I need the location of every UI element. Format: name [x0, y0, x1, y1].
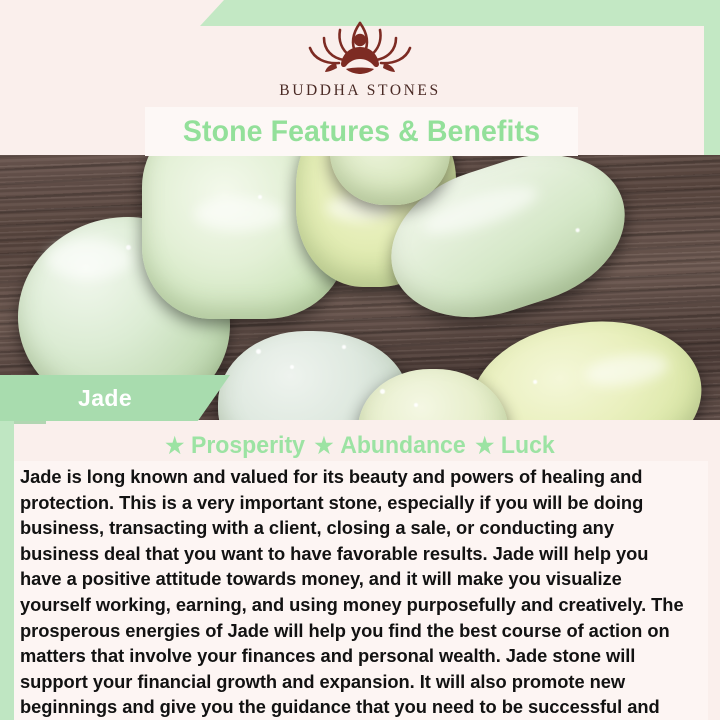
brand-logo: BUDDHA STONES	[0, 14, 720, 106]
benefit-item-abundance: ★ Abundance	[315, 432, 466, 460]
benefit-item-prosperity: ★ Prosperity	[165, 432, 305, 460]
green-left-strip-lower	[0, 400, 14, 720]
page-title: Stone Features & Benefits	[156, 107, 567, 156]
benefit-label: Luck	[501, 432, 555, 460]
benefits-row: ★ Prosperity ★ Abundance ★ Luck	[14, 430, 705, 462]
benefit-label: Abundance	[340, 432, 465, 460]
stone-name-label: Jade	[0, 375, 230, 421]
description-block: Jade is long known and valued for its be…	[14, 461, 708, 720]
lotus-meditation-icon	[294, 14, 426, 80]
benefit-item-luck: ★ Luck	[475, 432, 554, 460]
description-text: Jade is long known and valued for its be…	[20, 464, 692, 720]
brand-name: BUDDHA STONES	[279, 82, 440, 100]
benefit-label: Prosperity	[191, 432, 305, 460]
star-icon: ★	[315, 435, 334, 457]
stone-bottom-center-small	[358, 369, 508, 420]
star-icon: ★	[165, 435, 184, 457]
infographic-page: BUDDHA STONES Stone Features & Benefits	[0, 0, 720, 720]
star-icon: ★	[475, 435, 494, 457]
stone-left-bottom-sliver	[330, 155, 450, 205]
